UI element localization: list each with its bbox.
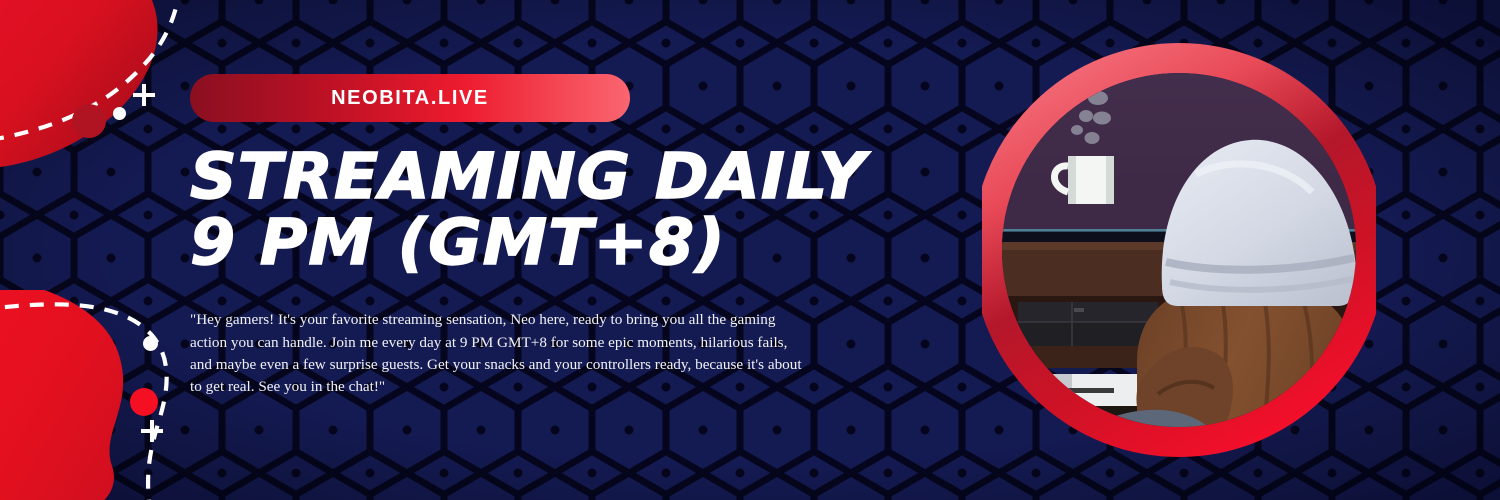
stream-schedule-banner: NEOBITA.LIVE STREAMING DAILY 9 PM (GMT+8… — [0, 0, 1500, 500]
page-title: STREAMING DAILY 9 PM (GMT+8) — [190, 146, 849, 273]
headline-line-1: STREAMING DAILY — [190, 146, 849, 208]
decoration-plus-bottom — [141, 420, 163, 442]
decoration-white-dot-bottom — [143, 336, 158, 351]
decoration-red-circle-top — [72, 104, 106, 138]
brand-badge[interactable]: NEOBITA.LIVE — [190, 74, 630, 122]
headline-line-2: 9 PM (GMT+8) — [190, 212, 849, 274]
decoration-red-circle-bottom — [130, 388, 158, 416]
streamer-portrait-circle[interactable] — [982, 6, 1376, 494]
decoration-white-dot-top — [113, 107, 126, 120]
content-column: NEOBITA.LIVE STREAMING DAILY 9 PM (GMT+8… — [190, 74, 830, 398]
description-text: "Hey gamers! It's your favorite streamin… — [190, 309, 808, 398]
decoration-plus-top — [133, 84, 155, 106]
